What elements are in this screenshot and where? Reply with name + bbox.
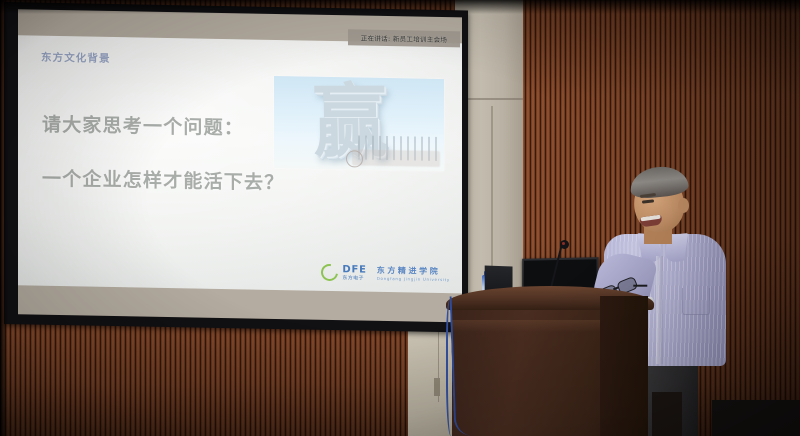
dfe-logo-text: DFE 东方电子 (342, 265, 366, 281)
slide-image-win-sculpture: 赢 (274, 76, 444, 171)
wall-plate (434, 378, 440, 396)
slide-body-line-1: 请大家思考一个问题： (42, 110, 244, 141)
slide-body-line-2: 一个企业怎样才能活下去？ (42, 164, 284, 195)
dark-object-foreground (652, 392, 682, 436)
podium (452, 298, 648, 436)
school-name-en: Dongfang Jingjin University (377, 276, 450, 281)
shirt-placket (656, 256, 663, 364)
dfe-leaf-icon (318, 261, 342, 285)
podium-side-panel (600, 296, 648, 436)
projected-slide: 东方文化背景 请大家思考一个问题： 一个企业怎样才能活下去？ 赢 DFE 东方电… (18, 35, 462, 293)
speaker-ear (678, 198, 689, 213)
dfe-abbreviation: DFE (342, 265, 366, 275)
slide-title: 东方文化背景 (41, 50, 111, 66)
dfe-logo: DFE 东方电子 东方精进学院 Dongfang Jingjin Univers… (321, 264, 450, 283)
photo-scene: 东方文化背景 请大家思考一个问题： 一个企业怎样才能活下去？ 赢 DFE 东方电… (0, 0, 800, 436)
now-speaking-banner: 正在讲话: 新员工培训主会场 (348, 29, 460, 47)
projection-screen-surface: 东方文化背景 请大家思考一个问题： 一个企业怎样才能活下去？ 赢 DFE 东方电… (18, 9, 462, 322)
dfe-abbreviation-cn: 东方电子 (342, 276, 366, 281)
power-cable-secondary (446, 300, 458, 436)
dfe-school-name: 东方精进学院 Dongfang Jingjin University (377, 266, 450, 281)
shirt-pocket (682, 288, 710, 315)
image-watermark (352, 149, 440, 167)
glasses-temple (633, 285, 647, 287)
projection-screen-frame: 东方文化背景 请大家思考一个问题： 一个企业怎样才能活下去？ 赢 DFE 东方电… (4, 2, 468, 333)
school-name-cn: 东方精进学院 (377, 266, 450, 275)
microphone-indicator-light (562, 242, 565, 245)
wheel-shape (346, 150, 363, 167)
dark-furniture-foreground (712, 400, 800, 436)
